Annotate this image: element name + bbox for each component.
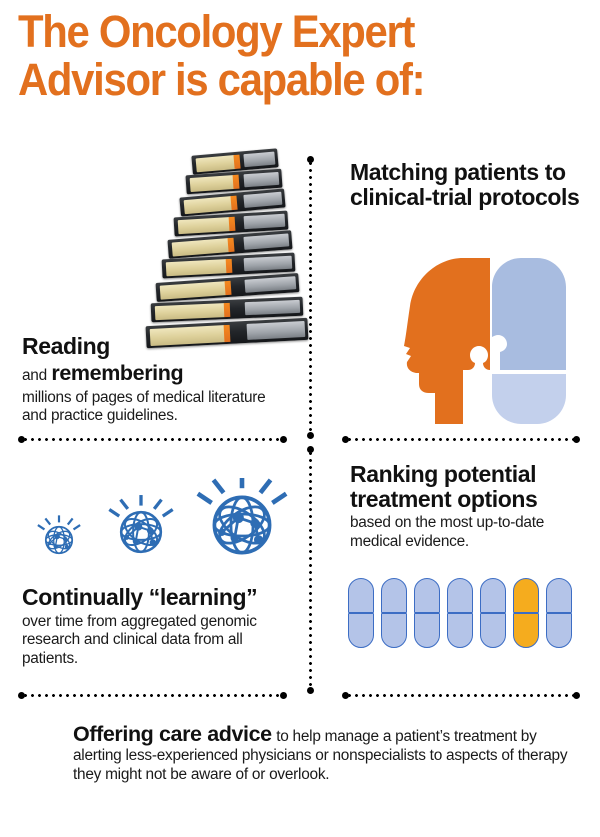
divider-dot <box>307 432 314 439</box>
network-globes-graphic <box>14 478 304 568</box>
divider-dot <box>342 436 349 443</box>
horizontal-divider-right-bottom <box>346 694 577 697</box>
panel-learning-body: over time from aggregated genomic resear… <box>22 613 297 669</box>
capsule-5 <box>480 578 506 648</box>
horizontal-divider-left-bottom <box>22 694 287 697</box>
network-globe-large <box>198 478 286 553</box>
vertical-divider-bottom <box>309 450 312 690</box>
capsule-4 <box>447 578 473 648</box>
capsule-3 <box>414 578 440 648</box>
panel-learning-heading: Continually “learning” <box>22 585 297 610</box>
capsule-6-highlighted <box>513 578 539 648</box>
divider-dot <box>573 692 580 699</box>
panel-ranking-text: Ranking potential treatment options base… <box>350 462 582 551</box>
panel-ranking-body: based on the most up-to-date medical evi… <box>350 514 582 551</box>
divider-dot <box>18 692 25 699</box>
horizontal-divider-right-mid <box>346 438 577 441</box>
capsule-top-half <box>492 258 566 370</box>
capsule-seam <box>492 370 566 374</box>
capsule-bottom-half <box>492 374 566 424</box>
head-silhouette <box>404 258 490 424</box>
capsule-2 <box>381 578 407 648</box>
panel-ranking-heading: Ranking potential treatment options <box>350 462 582 511</box>
divider-dot <box>280 692 287 699</box>
panel-learning-text: Continually “learning” over time from ag… <box>22 585 297 668</box>
network-globe-medium <box>109 495 172 552</box>
panel-offering-heading: Offering care advice <box>73 722 272 746</box>
divider-dot <box>280 436 287 443</box>
panel-matching-heading: Matching patients to clinical-trial prot… <box>350 160 586 209</box>
panel-reading-text: Reading and remembering millions of page… <box>22 334 290 426</box>
divider-dot <box>342 692 349 699</box>
stack-of-books-graphic <box>148 152 313 352</box>
panel-offering-text: Offering care advice to help manage a pa… <box>73 722 573 784</box>
panel-reading-heading-line1: Reading <box>22 334 290 359</box>
divider-dot <box>307 687 314 694</box>
panel-reading-body: millions of pages of medical literature … <box>22 389 290 426</box>
capsule-1 <box>348 578 374 648</box>
panel-reading-connector: and <box>22 367 47 384</box>
capsule-row-graphic <box>348 578 588 650</box>
horizontal-divider-left-mid <box>22 438 287 441</box>
panel-matching-text: Matching patients to clinical-trial prot… <box>350 160 586 209</box>
capsule-7 <box>546 578 572 648</box>
panel-reading-heading-line2: remembering <box>51 361 183 385</box>
page-title: The Oncology Expert Advisor is capable o… <box>18 8 544 104</box>
divider-dot <box>18 436 25 443</box>
head-and-capsule-puzzle-graphic <box>400 252 580 430</box>
divider-dot <box>573 436 580 443</box>
network-globe-small <box>38 515 80 553</box>
divider-dot <box>307 446 314 453</box>
